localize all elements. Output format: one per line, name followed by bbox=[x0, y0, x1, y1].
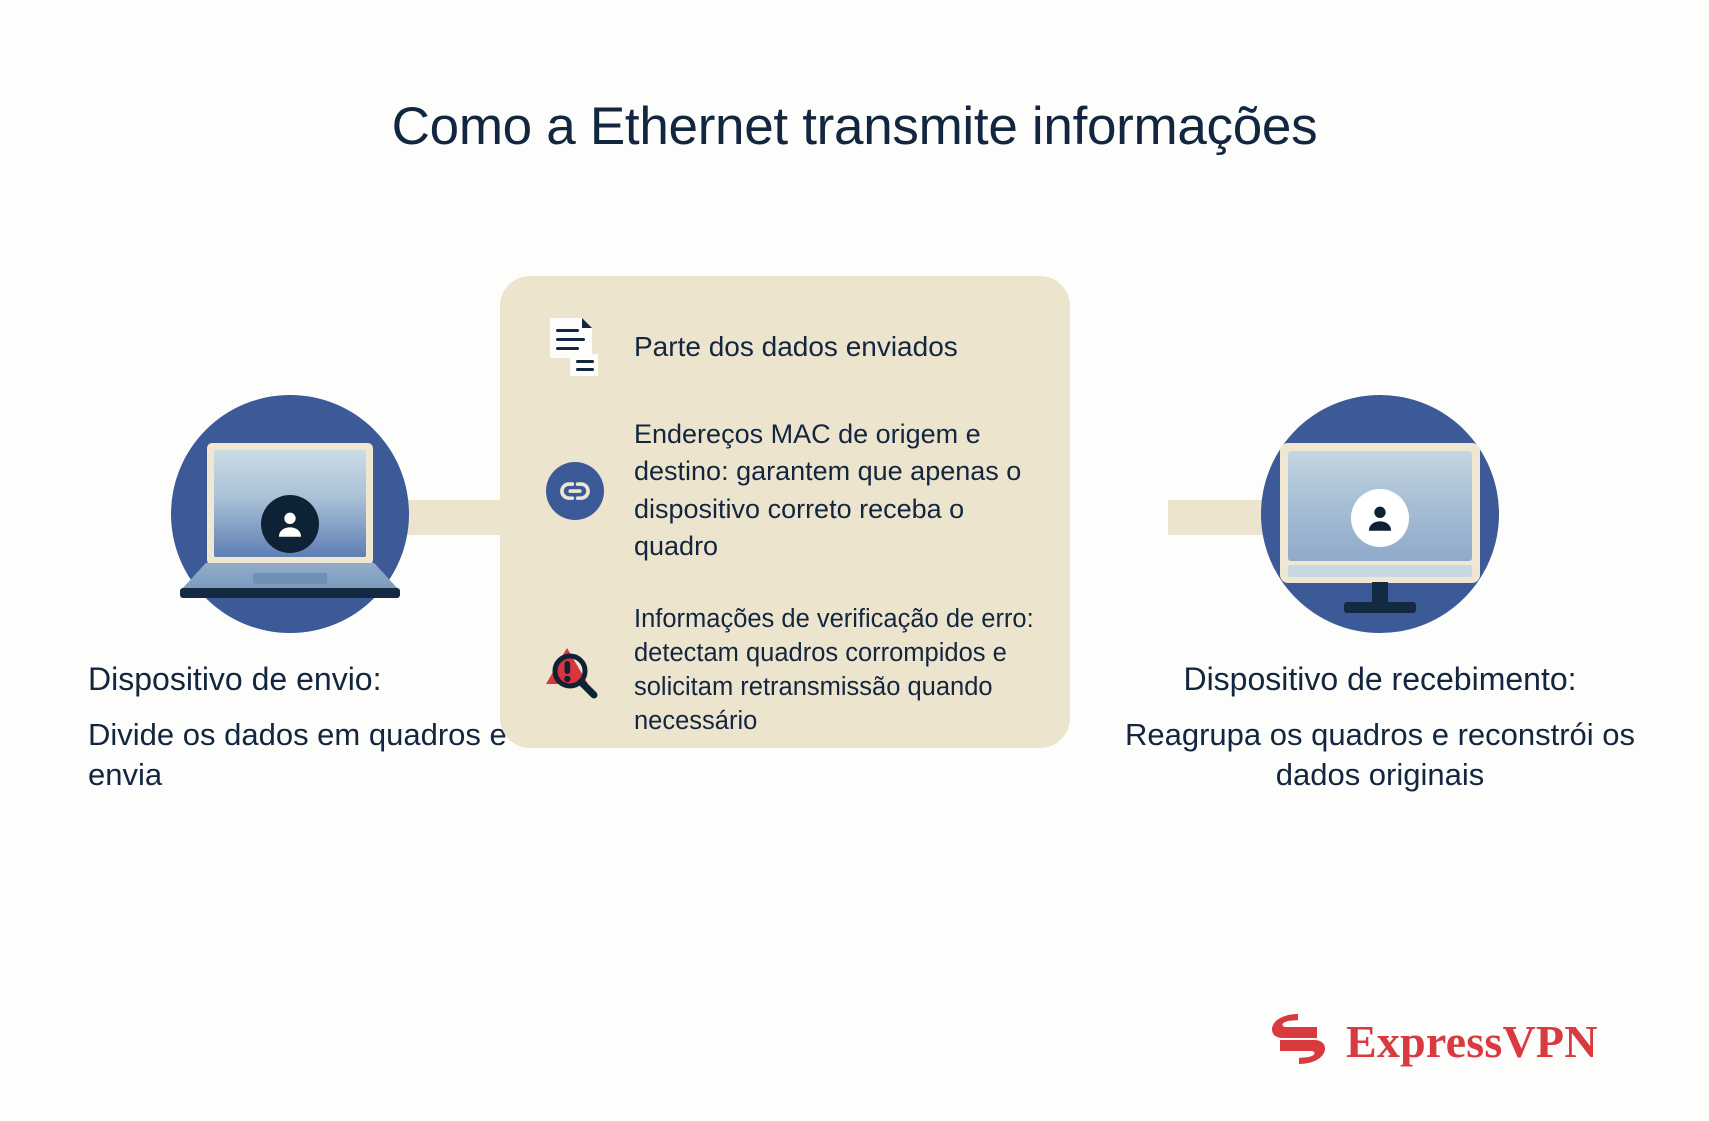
sending-device-title: Dispositivo de envio: bbox=[10, 659, 570, 699]
link-icon bbox=[544, 460, 606, 522]
document-icon bbox=[544, 316, 606, 378]
frame-item-mac-text: Endereços MAC de origem e destino: garan… bbox=[634, 416, 1042, 565]
sending-device-body: Divide os dados em quadros e os envia bbox=[10, 715, 570, 794]
sending-device-circle bbox=[171, 395, 409, 633]
sending-device-group: Dispositivo de envio: Divide os dados em… bbox=[10, 395, 570, 794]
frame-item-error-text: Informações de verificação de erro: dete… bbox=[634, 603, 1042, 739]
receiving-device-group: Dispositivo de recebimento: Reagrupa os … bbox=[1100, 395, 1660, 794]
infographic-canvas: Como a Ethernet transmite informações Di… bbox=[0, 0, 1709, 1121]
error-check-icon bbox=[544, 640, 606, 702]
receiving-device-circle bbox=[1261, 395, 1499, 633]
laptop-trackpad bbox=[253, 573, 327, 584]
ethernet-frame-panel: Parte dos dados enviados Endereços MAC d… bbox=[500, 276, 1070, 748]
laptop-foot bbox=[180, 588, 400, 598]
frame-item-data-text: Parte dos dados enviados bbox=[634, 328, 958, 367]
frame-item-data: Parte dos dados enviados bbox=[544, 316, 1042, 378]
person-icon bbox=[1351, 489, 1409, 547]
expressvpn-e-mark-icon bbox=[1268, 1012, 1330, 1071]
expressvpn-logo: ExpressVPN bbox=[1268, 1012, 1598, 1071]
frame-item-mac: Endereços MAC de origem e destino: garan… bbox=[544, 416, 1042, 565]
receiving-device-body: Reagrupa os quadros e reconstrói os dado… bbox=[1100, 715, 1660, 794]
receiving-device-title: Dispositivo de recebimento: bbox=[1100, 659, 1660, 699]
expressvpn-wordmark: ExpressVPN bbox=[1346, 1019, 1598, 1065]
frame-item-error: Informações de verificação de erro: dete… bbox=[544, 603, 1042, 739]
monitor-chin bbox=[1288, 565, 1472, 577]
link-icon-circle bbox=[546, 462, 604, 520]
monitor-neck bbox=[1372, 582, 1388, 604]
person-icon bbox=[261, 495, 319, 553]
monitor-stand bbox=[1344, 602, 1416, 613]
page-title: Como a Ethernet transmite informações bbox=[0, 98, 1709, 156]
